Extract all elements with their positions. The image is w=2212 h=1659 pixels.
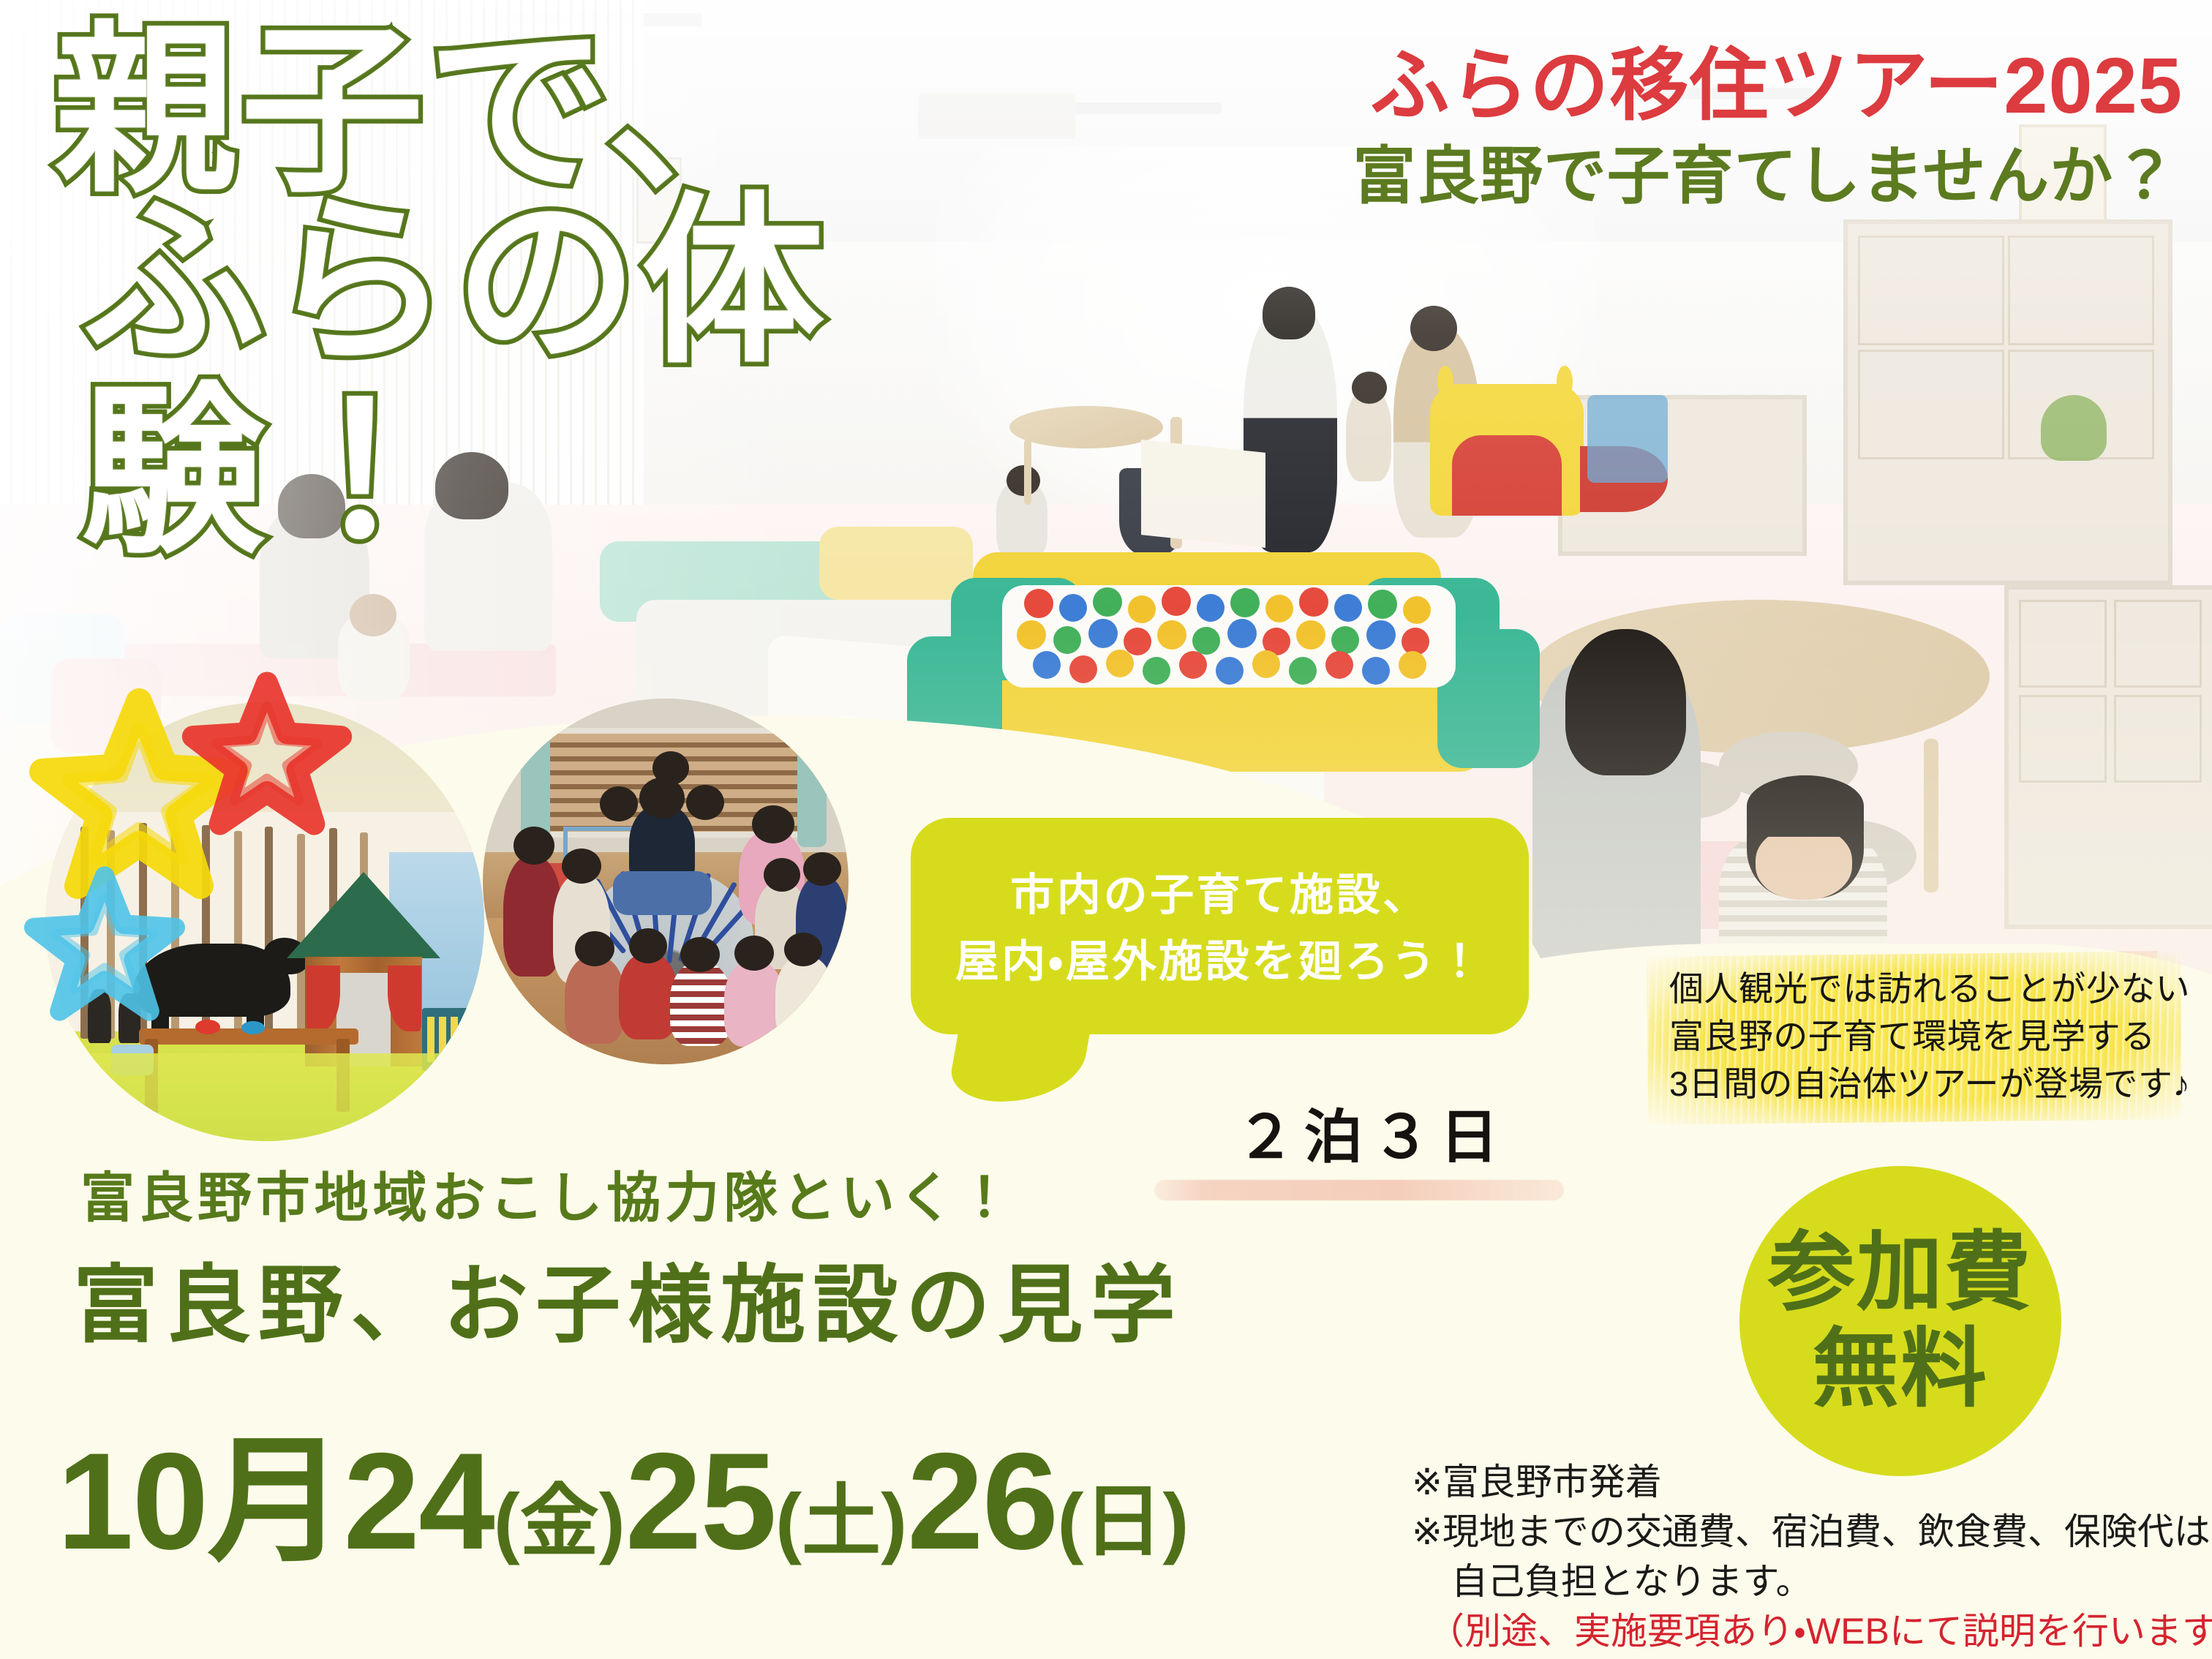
date-day-3: 26	[907, 1424, 1057, 1578]
headline-line-2: ふらの体験！	[44, 187, 1185, 568]
marker-line-3: 3日間の自治体ツアーが登場です♪	[1669, 1061, 2181, 1108]
child-legs	[613, 871, 712, 915]
footnotes: ※富良野市発着 ※現地までの交通費、宿泊費、飲食費、保険代は 自己負担となります…	[1412, 1457, 2212, 1656]
play-knob-blue	[241, 1021, 265, 1034]
free-participation-badge: 参加費 無料	[1739, 1166, 2061, 1476]
date-dow-2: (土)	[775, 1477, 907, 1565]
child-seated	[670, 962, 731, 1046]
page-title: 親子で、 ふらの体験！	[44, 16, 1185, 568]
tour-title: ふらの移住ツアー2025	[1370, 22, 2183, 136]
date-day-2: 25	[625, 1424, 775, 1578]
footnote-1: ※富良野市発着	[1412, 1457, 2212, 1507]
marker-line-2: 富良野の子育て環境を見学する	[1669, 1013, 2181, 1061]
footnote-4: （別途、実施要項あり・WEBにて説明を行います）	[1412, 1606, 2212, 1656]
play-knob-red	[195, 1020, 220, 1034]
speech-bubble-line-2: 屋内・屋外施設を廻ろう！	[911, 928, 1529, 995]
tour-subtitle: 富良野で子育てしませんか？	[1353, 124, 2177, 216]
footnote-2: ※現地までの交通費、宿泊費、飲食費、保険代は	[1412, 1507, 2212, 1557]
sub-heading: 富良野市地域おこし協力隊といく！	[80, 1154, 1016, 1233]
speech-bubble: 市内の子育て施設、 屋内・屋外施設を廻ろう！	[911, 818, 1529, 1034]
circle-photo-children-group	[483, 699, 849, 1064]
crayon-star-blue	[20, 863, 189, 1024]
child-seated	[619, 953, 677, 1039]
child-seated	[565, 956, 625, 1044]
date-dow-3: (日)	[1057, 1477, 1189, 1565]
marker-line-1: 個人観光では訪れることが少ない	[1669, 966, 2181, 1013]
curtain-right	[797, 719, 827, 847]
event-dates: 10月24(金)25(土)26(日)	[57, 1390, 1189, 1589]
duration-underline	[1154, 1180, 1564, 1200]
play-hut-roof	[287, 872, 440, 958]
date-month: 10月	[57, 1424, 343, 1578]
headline-line-1: 親子で、	[44, 16, 1185, 206]
duration-label: ２泊３日	[1236, 1090, 1508, 1175]
marker-note-text: 個人観光では訪れることが少ない 富良野の子育て環境を見学する 3日間の自治体ツア…	[1669, 966, 2181, 1108]
poster-canvas: 親子で、 ふらの体験！ ふらの移住ツアー2025 富良野で子育てしませんか？	[0, 0, 2212, 1659]
speech-bubble-line-1: 市内の子育て施設、	[911, 862, 1529, 928]
date-day-1: 24	[343, 1424, 493, 1578]
speech-bubble-text: 市内の子育て施設、 屋内・屋外施設を廻ろう！	[911, 862, 1529, 995]
child-seated	[775, 956, 834, 1042]
badge-line-2: 無料	[1813, 1321, 1989, 1418]
badge-line-1: 参加費	[1768, 1224, 2032, 1321]
marker-note-block: 個人観光では訪れることが少ない 富良野の子育て環境を見学する 3日間の自治体ツア…	[1669, 966, 2181, 1108]
crayon-star-red	[179, 669, 355, 838]
green-mat-floor	[45, 1053, 484, 1141]
date-dow-1: (金)	[494, 1477, 625, 1565]
footnote-3: 自己負担となります。	[1412, 1557, 2212, 1606]
main-heading: 富良野、お子様施設の見学	[73, 1236, 1183, 1359]
